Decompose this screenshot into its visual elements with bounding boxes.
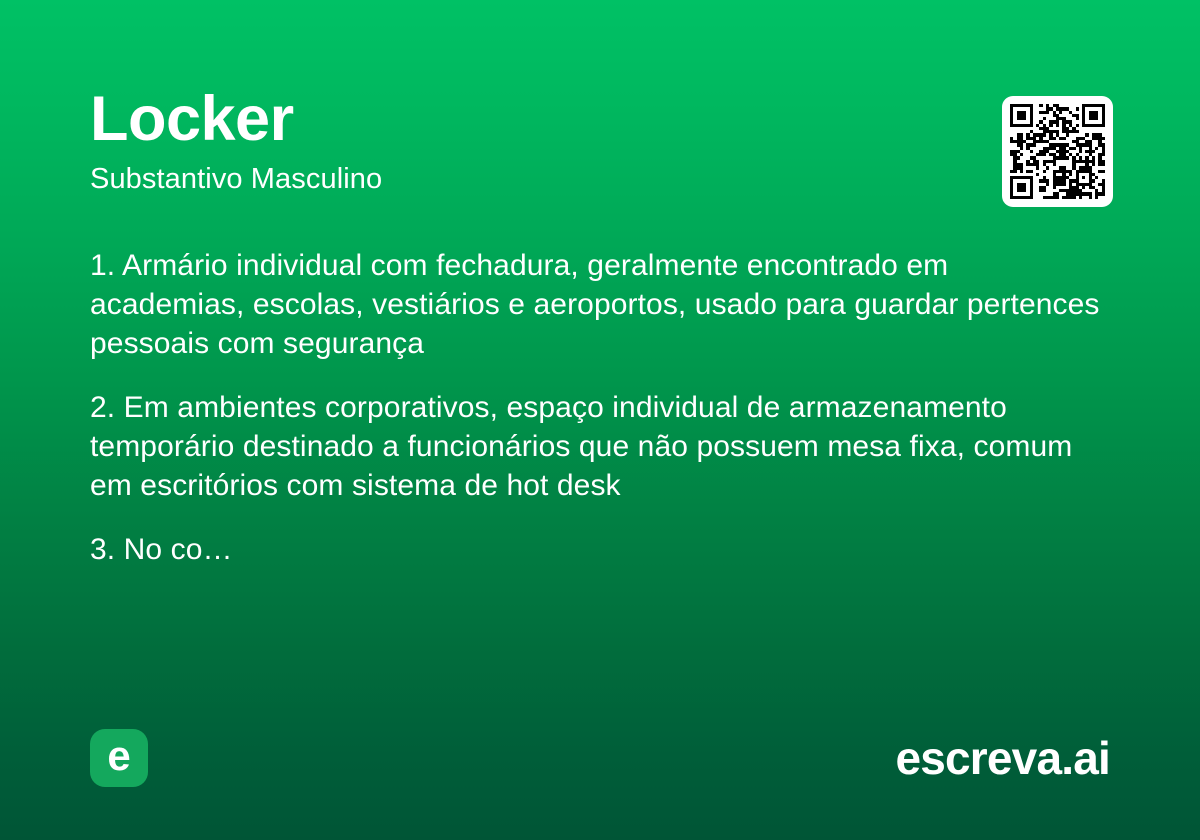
definition-list: 1. Armário individual com fechadura, ger… (90, 246, 1110, 569)
definition-item: 3. No co… (90, 530, 1110, 569)
card-footer: e escreva.ai (90, 728, 1110, 788)
definition-item: 2. Em ambientes corporativos, espaço ind… (90, 388, 1110, 505)
word-header: Locker Substantivo Masculino (90, 84, 950, 196)
qr-code-card[interactable] (1002, 96, 1113, 207)
word-class-label: Substantivo Masculino (90, 154, 950, 196)
definition-item: 1. Armário individual com fechadura, ger… (90, 246, 1110, 363)
page-title: Locker (90, 84, 950, 154)
brand-wordmark: escreva.ai (895, 735, 1110, 781)
brand-logo-badge: e (90, 729, 148, 787)
dictionary-card: Locker Substantivo Masculino 1. Armário … (0, 0, 1200, 840)
qr-code-icon (1010, 104, 1105, 199)
brand-logo-letter: e (107, 735, 130, 777)
